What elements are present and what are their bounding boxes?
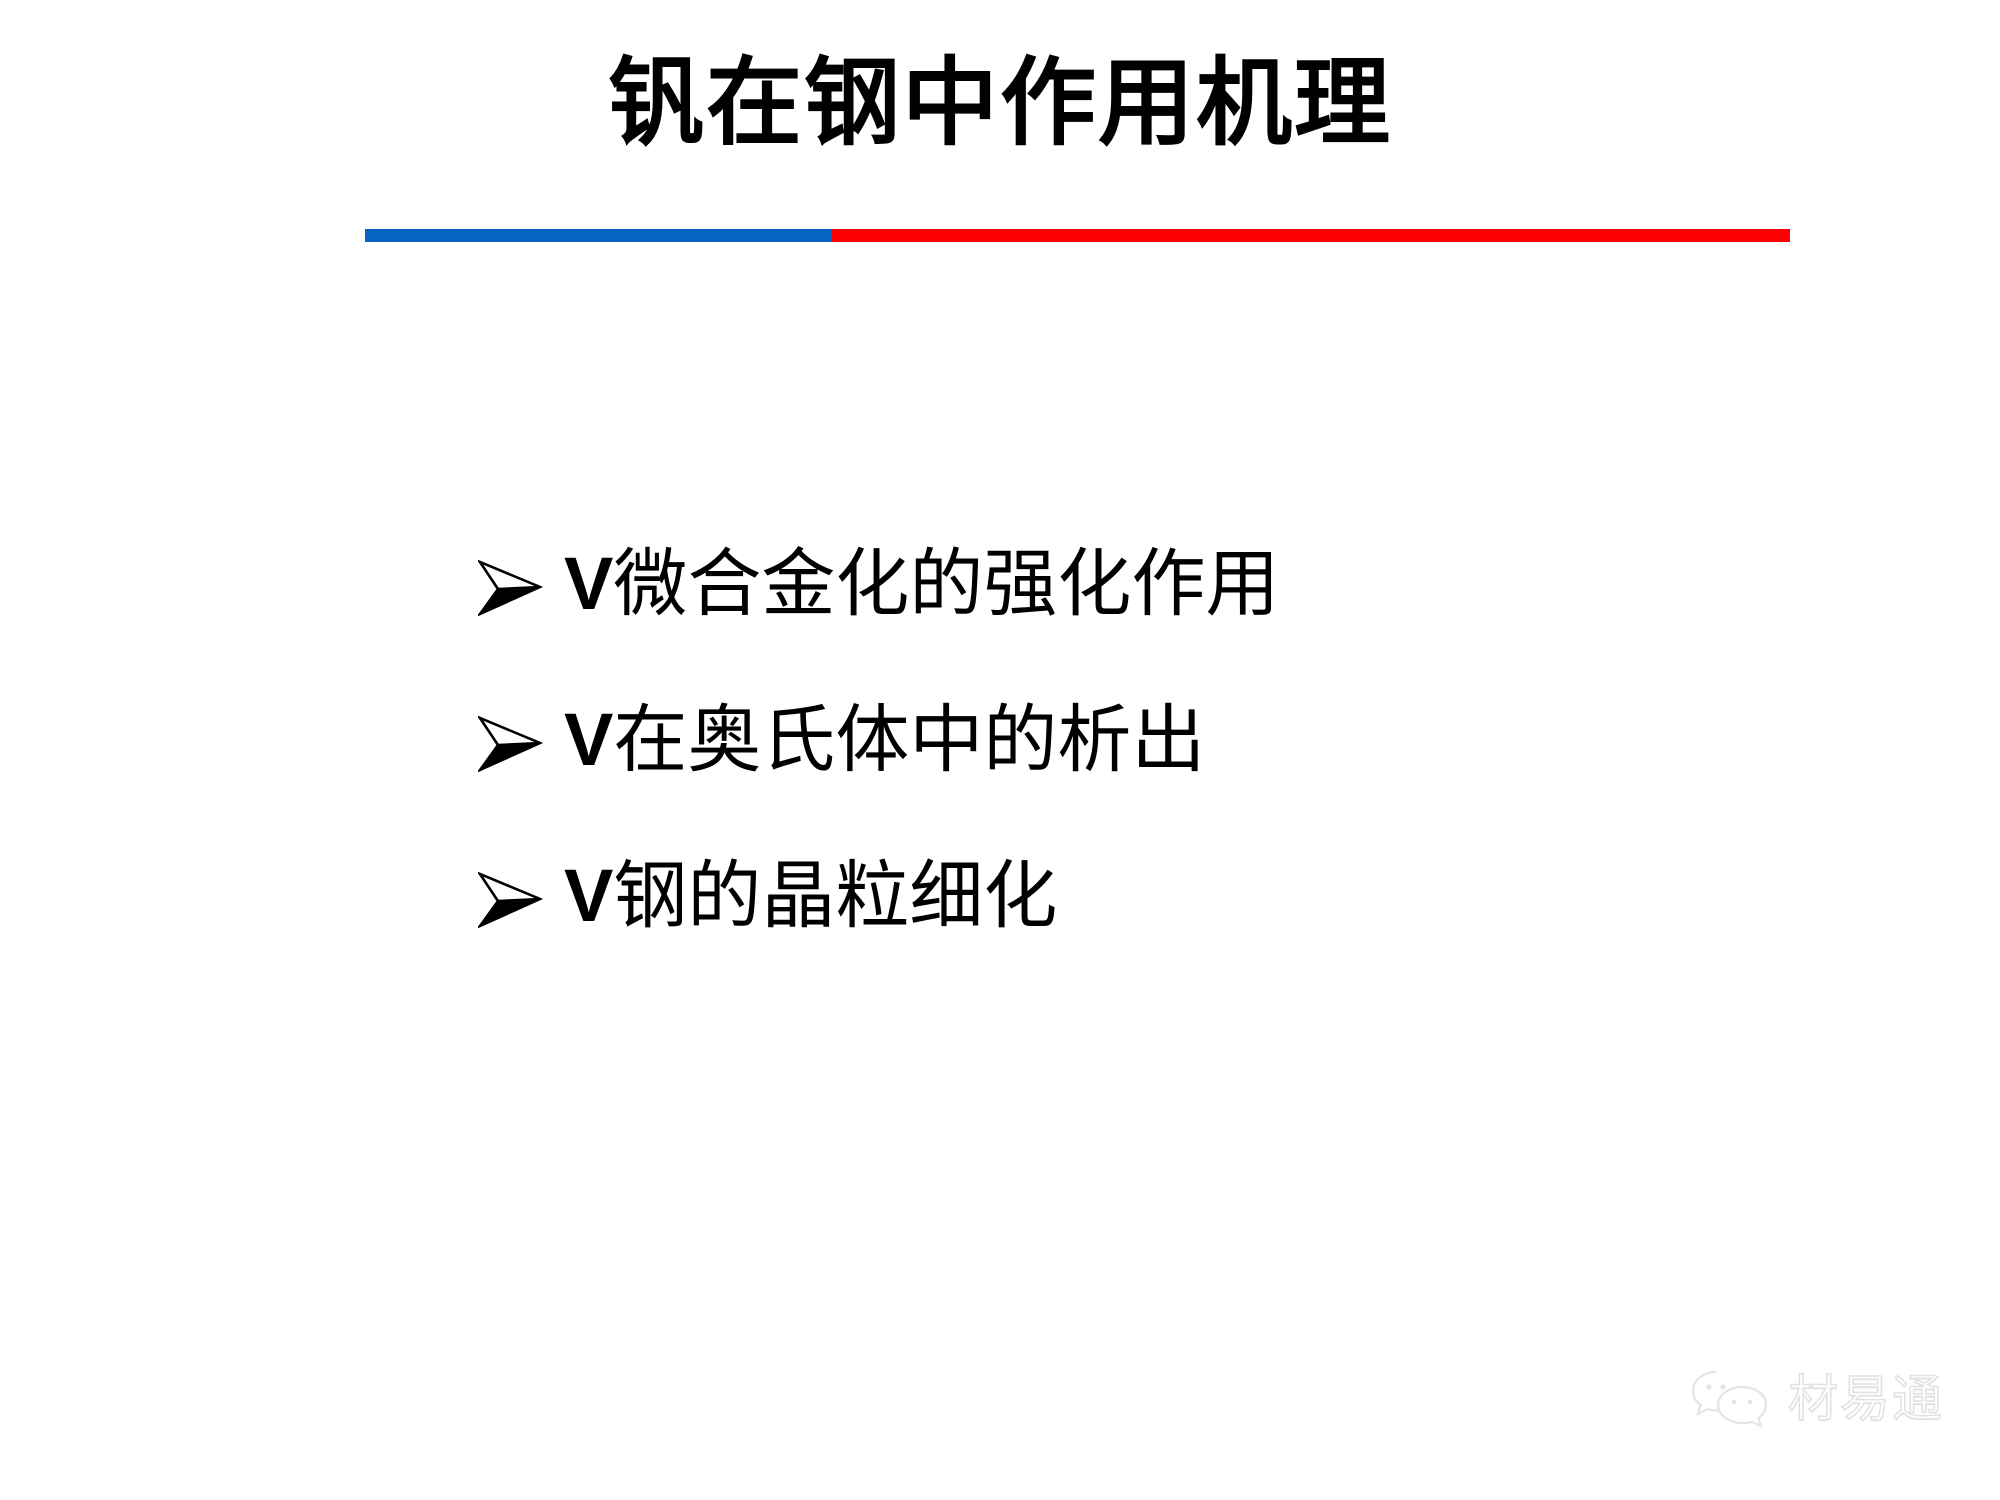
list-item: V微合金化的强化作用 — [478, 542, 1778, 626]
list-item-lead: V — [564, 698, 613, 781]
list-item-text: V钢的晶粒细化 — [564, 854, 1778, 939]
title-block: 钒在钢中作用机理 — [0, 52, 2000, 156]
list-item-text: V微合金化的强化作用 — [564, 542, 1778, 627]
arrow-bullet-icon — [478, 542, 564, 626]
arrow-bullet-icon — [478, 854, 564, 938]
page-title: 钒在钢中作用机理 — [608, 52, 1392, 156]
list-item: V钢的晶粒细化 — [478, 854, 1778, 938]
divider-segment-red — [832, 229, 1790, 242]
wechat-icon — [1690, 1368, 1772, 1430]
bullet-list: V微合金化的强化作用 V在奥氏体中的析出 V钢的晶粒细化 — [478, 542, 1778, 938]
list-item-body: 微合金化的强化作用 — [613, 544, 1279, 626]
watermark-label: 材易通 — [1788, 1374, 1944, 1424]
list-item: V在奥氏体中的析出 — [478, 698, 1778, 782]
list-item-body: 钢的晶粒细化 — [613, 856, 1057, 938]
list-item-body: 在奥氏体中的析出 — [613, 700, 1205, 782]
title-divider-rule — [365, 229, 1790, 242]
slide-canvas: 钒在钢中作用机理 V微合金化的强化作用 — [0, 0, 2000, 1500]
list-item-text: V在奥氏体中的析出 — [564, 698, 1778, 783]
list-item-lead: V — [564, 854, 613, 937]
divider-segment-blue — [365, 229, 832, 242]
watermark: 材易通 — [1690, 1368, 1944, 1430]
arrow-bullet-icon — [478, 698, 564, 782]
list-item-lead: V — [564, 542, 613, 625]
